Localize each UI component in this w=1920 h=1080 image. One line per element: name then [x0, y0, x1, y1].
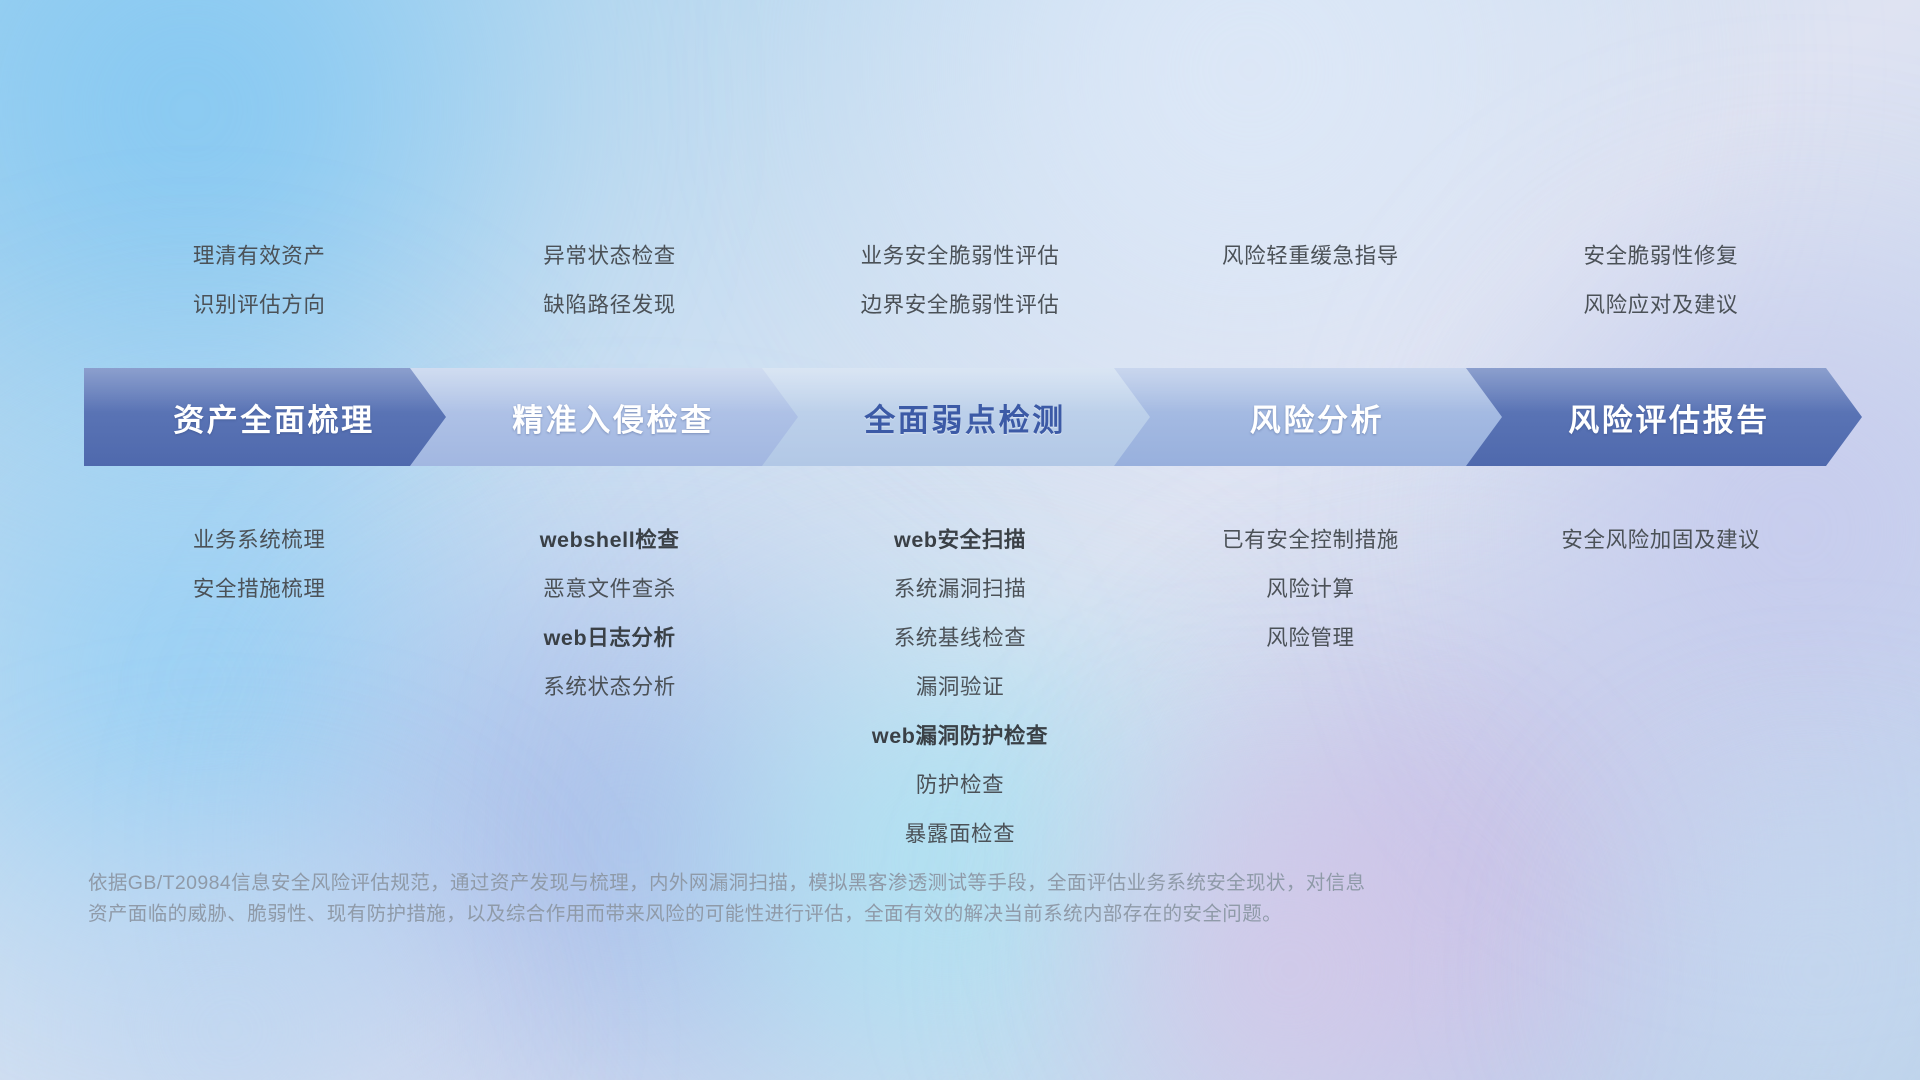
output-item: 风险管理	[1266, 614, 1354, 663]
process-chevron-band: 资产全面梳理精准入侵检查全面弱点检测风险分析风险评估报告	[84, 368, 1836, 466]
output-item: 系统漏洞扫描	[894, 565, 1027, 614]
chevron-risk-report[interactable]: 风险评估报告	[1466, 368, 1862, 466]
input-item: 安全脆弱性修复	[1583, 232, 1738, 281]
description-paragraph: 依据GB/T20984信息安全风险评估规范，通过资产发现与梳理，内外网漏洞扫描，…	[88, 868, 1488, 930]
input-item: 边界安全脆弱性评估	[861, 281, 1060, 330]
output-item: 暴露面检查	[905, 810, 1016, 859]
output-item: 业务系统梳理	[193, 516, 326, 565]
chevron-risk-analysis[interactable]: 风险分析	[1114, 368, 1510, 466]
stage-inputs-intrusion-check: 异常状态检查缺陷路径发现	[434, 232, 784, 330]
input-item: 识别评估方向	[193, 281, 326, 330]
output-item: web漏洞防护检查	[872, 712, 1048, 761]
description-line-2: 资产面临的威胁、脆弱性、现有防护措施，以及综合作用而带来风险的可能性进行评估，全…	[88, 899, 1488, 930]
output-item: 系统状态分析	[543, 663, 676, 712]
input-item: 理清有效资产	[193, 232, 326, 281]
stage-outputs-risk-report: 安全风险加固及建议	[1486, 516, 1836, 565]
input-item: 风险应对及建议	[1583, 281, 1738, 330]
description-line-1: 依据GB/T20984信息安全风险评估规范，通过资产发现与梳理，内外网漏洞扫描，…	[88, 868, 1488, 899]
stage-outputs-intrusion-check: webshell检查恶意文件查杀web日志分析系统状态分析	[434, 516, 784, 712]
output-item: 系统基线检查	[894, 614, 1027, 663]
output-item: 漏洞验证	[916, 663, 1004, 712]
stage-inputs-row: 理清有效资产识别评估方向异常状态检查缺陷路径发现业务安全脆弱性评估边界安全脆弱性…	[84, 232, 1836, 330]
chevron-asset-inventory[interactable]: 资产全面梳理	[84, 368, 454, 466]
stage-inputs-weakness-detection: 业务安全脆弱性评估边界安全脆弱性评估	[785, 232, 1135, 330]
chevron-label: 风险评估报告	[1558, 395, 1770, 440]
input-item: 缺陷路径发现	[543, 281, 676, 330]
chevron-label: 全面弱点检测	[854, 395, 1066, 440]
stage-inputs-asset-inventory: 理清有效资产识别评估方向	[84, 232, 434, 330]
output-item: 防护检查	[916, 761, 1004, 810]
chevron-weakness-detection[interactable]: 全面弱点检测	[762, 368, 1158, 466]
output-item: web安全扫描	[894, 516, 1026, 565]
stage-outputs-weakness-detection: web安全扫描系统漏洞扫描系统基线检查漏洞验证web漏洞防护检查防护检查暴露面检…	[785, 516, 1135, 859]
stage-outputs-asset-inventory: 业务系统梳理安全措施梳理	[84, 516, 434, 614]
stage-outputs-row: 业务系统梳理安全措施梳理webshell检查恶意文件查杀web日志分析系统状态分…	[84, 516, 1836, 859]
chevron-label: 风险分析	[1240, 395, 1384, 440]
output-item: 恶意文件查杀	[543, 565, 676, 614]
output-item: 安全风险加固及建议	[1561, 516, 1760, 565]
stage-outputs-risk-analysis: 已有安全控制措施风险计算风险管理	[1135, 516, 1485, 663]
input-item: 业务安全脆弱性评估	[861, 232, 1060, 281]
output-item: 风险计算	[1266, 565, 1354, 614]
output-item: 安全措施梳理	[193, 565, 326, 614]
infographic-canvas: 理清有效资产识别评估方向异常状态检查缺陷路径发现业务安全脆弱性评估边界安全脆弱性…	[0, 0, 1920, 1080]
stage-inputs-risk-report: 安全脆弱性修复风险应对及建议	[1486, 232, 1836, 330]
chevron-label: 精准入侵检查	[502, 395, 714, 440]
output-item: webshell检查	[540, 516, 680, 565]
chevron-label: 资产全面梳理	[163, 395, 375, 440]
input-item: 风险轻重缓急指导	[1222, 232, 1399, 281]
output-item: web日志分析	[544, 614, 676, 663]
chevron-intrusion-check[interactable]: 精准入侵检查	[410, 368, 806, 466]
output-item: 已有安全控制措施	[1222, 516, 1399, 565]
input-item: 异常状态检查	[543, 232, 676, 281]
stage-inputs-risk-analysis: 风险轻重缓急指导	[1135, 232, 1485, 281]
